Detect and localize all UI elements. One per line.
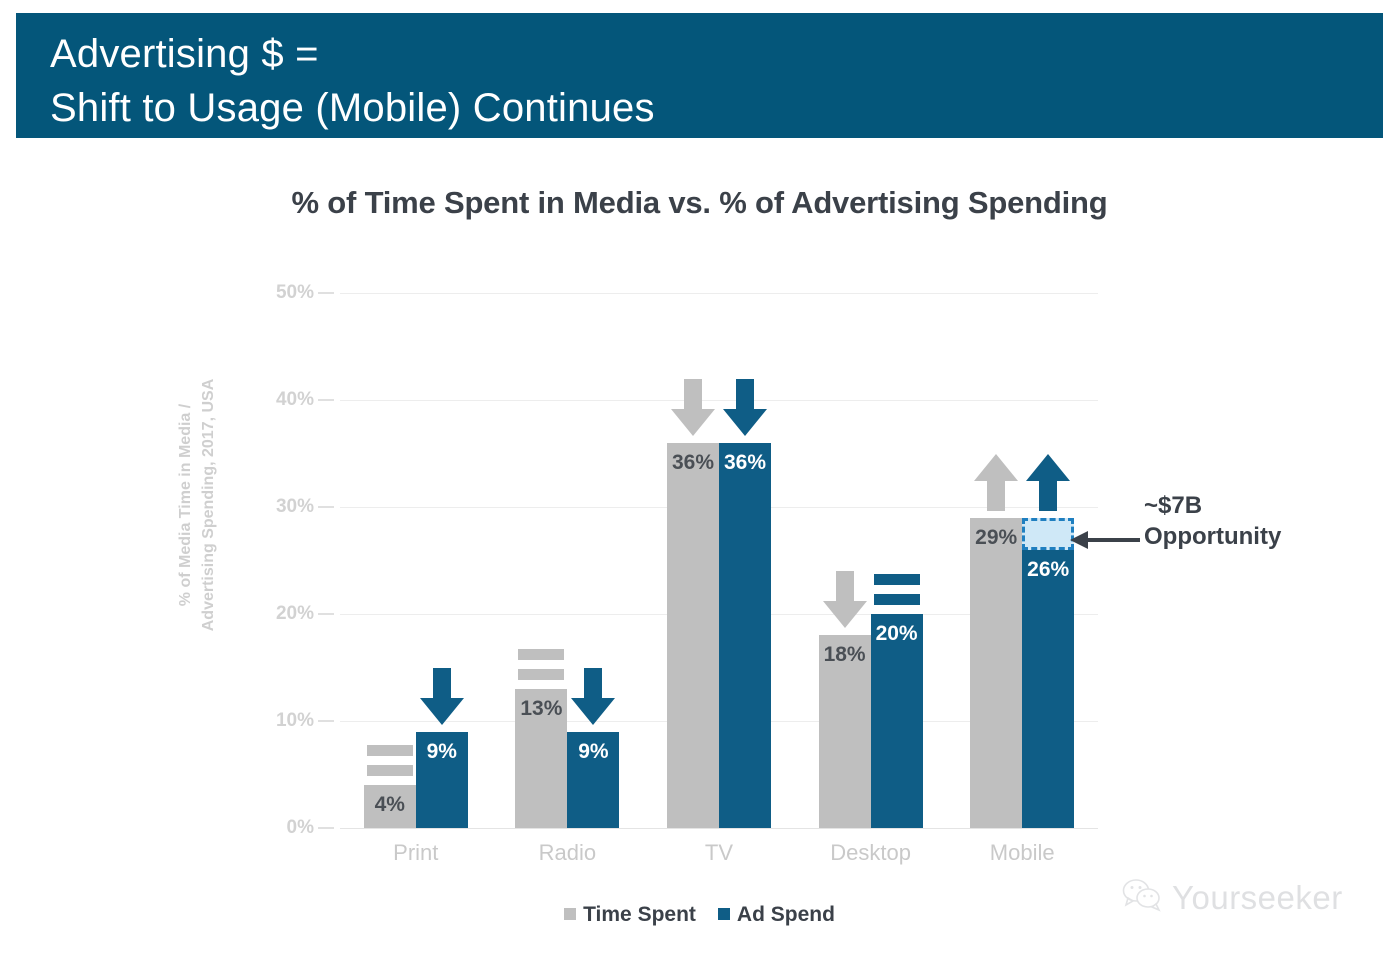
x-axis-label-print: Print bbox=[340, 840, 492, 866]
chart-title: % of Time Spent in Media vs. % of Advert… bbox=[0, 185, 1399, 221]
header-title-line-2: Shift to Usage (Mobile) Continues bbox=[50, 81, 1383, 135]
bar-group-print: 4%9%Print bbox=[340, 293, 492, 828]
bar-group-mobile: 29%26%Mobile bbox=[946, 293, 1098, 828]
y-tick-mark bbox=[318, 827, 334, 829]
plot-area: 0%10%20%30%40%50%4%9%Print13%9%Radio36%3… bbox=[340, 293, 1098, 828]
watermark: Yourseeker bbox=[1122, 878, 1343, 917]
y-tick-mark bbox=[318, 399, 334, 401]
bar-value-label: 13% bbox=[515, 697, 567, 721]
header-banner: Advertising $ = Shift to Usage (Mobile) … bbox=[16, 13, 1383, 138]
y-tick-mark bbox=[318, 292, 334, 294]
bar-print-ad-spend[interactable]: 9% bbox=[416, 732, 468, 828]
opportunity-box[interactable] bbox=[1022, 518, 1074, 550]
opportunity-label: Opportunity bbox=[1144, 521, 1374, 552]
x-axis-label-tv: TV bbox=[643, 840, 795, 866]
trend-equal-icon bbox=[367, 743, 413, 779]
header-title-line-1: Advertising $ = bbox=[50, 27, 1383, 81]
legend-swatch bbox=[564, 908, 576, 920]
y-tick-mark bbox=[318, 613, 334, 615]
legend-label: Time Spent bbox=[583, 903, 696, 926]
trend-down-arrow-icon bbox=[822, 571, 868, 629]
y-axis-title-line-1: % of Media Time in Media / bbox=[174, 330, 197, 680]
bar-value-label: 26% bbox=[1022, 558, 1074, 582]
bar-mobile-time-spent[interactable]: 29% bbox=[970, 518, 1022, 828]
trend-down-arrow-icon bbox=[570, 668, 616, 726]
legend-item-time-spent[interactable]: Time Spent bbox=[564, 903, 696, 927]
legend-item-ad-spend[interactable]: Ad Spend bbox=[718, 903, 835, 927]
bar-value-label: 36% bbox=[667, 451, 719, 475]
x-axis-label-radio: Radio bbox=[492, 840, 644, 866]
trend-equal-icon bbox=[518, 647, 564, 683]
bar-print-time-spent[interactable]: 4% bbox=[364, 785, 416, 828]
y-tick-label: 30% bbox=[276, 496, 314, 518]
x-axis-label-desktop: Desktop bbox=[795, 840, 947, 866]
bar-radio-time-spent[interactable]: 13% bbox=[515, 689, 567, 828]
bar-value-label: 20% bbox=[871, 622, 923, 646]
bar-value-label: 18% bbox=[819, 643, 871, 667]
y-axis-title: % of Media Time in Media / Advertising S… bbox=[174, 330, 234, 680]
legend-swatch bbox=[718, 908, 730, 920]
bar-group-tv: 36%36%TV bbox=[643, 293, 795, 828]
bar-desktop-time-spent[interactable]: 18% bbox=[819, 635, 871, 828]
bar-value-label: 9% bbox=[567, 740, 619, 764]
legend-label: Ad Spend bbox=[737, 903, 835, 926]
y-tick-mark bbox=[318, 506, 334, 508]
gridline-0% bbox=[340, 828, 1098, 829]
bar-value-label: 4% bbox=[364, 793, 416, 817]
bar-radio-ad-spend[interactable]: 9% bbox=[567, 732, 619, 828]
opportunity-pointer-arrow-icon bbox=[1070, 530, 1142, 550]
trend-equal-icon bbox=[874, 572, 920, 608]
y-tick-label: 50% bbox=[276, 282, 314, 304]
y-tick-label: 40% bbox=[276, 389, 314, 411]
trend-up-arrow-icon bbox=[1025, 454, 1071, 512]
y-axis-title-line-2: Advertising Spending, 2017, USA bbox=[197, 330, 220, 680]
bar-mobile-ad-spend[interactable]: 26% bbox=[1022, 550, 1074, 828]
trend-up-arrow-icon bbox=[973, 454, 1019, 512]
wechat-icon bbox=[1122, 878, 1162, 917]
bar-group-desktop: 18%20%Desktop bbox=[795, 293, 947, 828]
y-tick-label: 20% bbox=[276, 603, 314, 625]
bar-value-label: 9% bbox=[416, 740, 468, 764]
trend-down-arrow-icon bbox=[419, 668, 465, 726]
trend-down-arrow-icon bbox=[722, 379, 768, 437]
y-tick-mark bbox=[318, 720, 334, 722]
y-tick-label: 0% bbox=[287, 817, 314, 839]
opportunity-annotation: ~$7B Opportunity bbox=[1144, 490, 1374, 552]
opportunity-amount: ~$7B bbox=[1144, 490, 1374, 521]
bar-value-label: 36% bbox=[719, 451, 771, 475]
trend-down-arrow-icon bbox=[670, 379, 716, 437]
bar-tv-ad-spend[interactable]: 36% bbox=[719, 443, 771, 828]
x-axis-label-mobile: Mobile bbox=[946, 840, 1098, 866]
bar-value-label: 29% bbox=[970, 526, 1022, 550]
bar-group-radio: 13%9%Radio bbox=[492, 293, 644, 828]
watermark-text: Yourseeker bbox=[1172, 879, 1343, 917]
bar-desktop-ad-spend[interactable]: 20% bbox=[871, 614, 923, 828]
y-tick-label: 10% bbox=[276, 710, 314, 732]
bar-tv-time-spent[interactable]: 36% bbox=[667, 443, 719, 828]
